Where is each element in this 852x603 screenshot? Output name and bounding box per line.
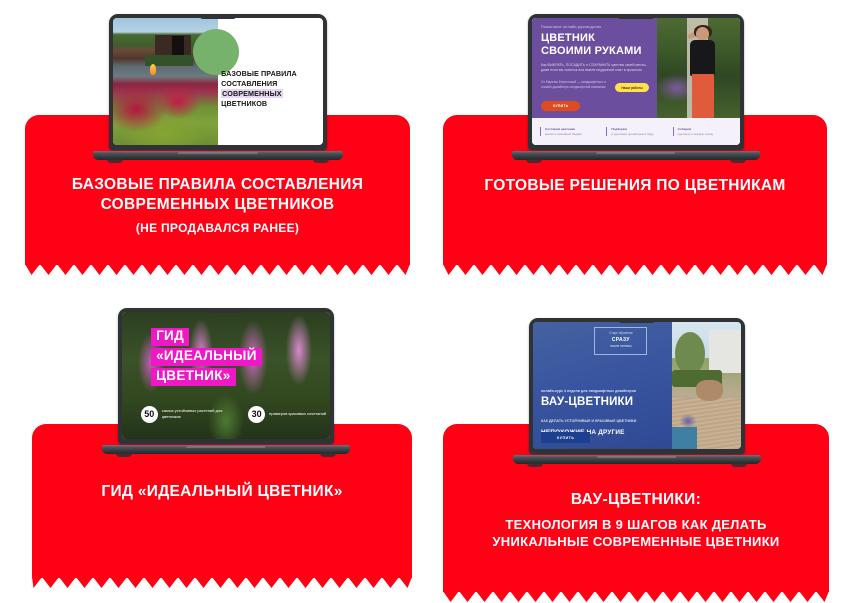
card-caption: БАЗОВЫЕ ПРАВИЛА СОСТАВЛЕНИЯ СОВРЕМЕННЫХ … [25, 175, 410, 237]
slide-basic-rules: БАЗОВЫЕ ПРАВИЛА СОСТАВЛЕНИЯ СОВРЕМЕННЫХ … [113, 18, 323, 145]
ribbon-zigzag-edge [443, 591, 829, 603]
cover-title: ГИД «ИДЕАЛЬНЫЙ ЦВЕТНИК» [151, 327, 262, 387]
promo-card-basic-rules: БАЗОВЫЕ ПРАВИЛА СОСТАВЛЕНИЯ СОВРЕМЕННЫХ … [25, 0, 410, 280]
hero-author: От Марины Берестовой — ландшафтного и он… [541, 80, 608, 90]
feature-subtitle: время и семейный бюджет [545, 132, 599, 137]
caption-line-1: БАЗОВЫЕ ПРАВИЛА СОСТАВЛЕНИЯ [25, 175, 410, 195]
stat-number: 30 [248, 406, 265, 423]
laptop-screen: Старт обучения СРАЗУ после оплаты онлайн… [533, 322, 741, 449]
feature-strip: Составим цветники время и семейный бюдже… [532, 118, 740, 145]
promo-card-wow-flowerbeds: Старт обучения СРАЗУ после оплаты онлайн… [443, 300, 829, 592]
stat-item: 50 самых устойчивых растений для цветник… [141, 406, 224, 423]
laptop-base [102, 445, 350, 454]
slide-ideal-guide: ГИД «ИДЕАЛЬНЫЙ ЦВЕТНИК» 50 самых устойчи… [122, 312, 330, 439]
feature-subtitle: в удалении организуем в саду [611, 132, 665, 137]
headline-line-4: ЦВЕТНИКОВ [221, 99, 321, 109]
laptop-mockup: ГИД «ИДЕАЛЬНЫЙ ЦВЕТНИК» 50 самых устойчи… [118, 308, 334, 458]
title-band-2: «ИДЕАЛЬНЫЙ [151, 348, 262, 366]
laptop-screen: Пошаговое онлайн-руководство ЦВЕТНИК СВО… [532, 18, 740, 145]
laptop-lid: Старт обучения СРАЗУ после оплаты онлайн… [529, 318, 745, 454]
badge-line-3: после оплаты [597, 344, 644, 349]
slide-wow-flowerbeds: Старт обучения СРАЗУ после оплаты онлайн… [533, 322, 741, 449]
caption-note: (НЕ ПРОДАВАЛСЯ РАНЕЕ) [25, 221, 410, 237]
headline-line-1: БАЗОВЫЕ ПРАВИЛА [221, 69, 321, 79]
webcam-notch [207, 308, 245, 313]
laptop-mockup: Старт обучения СРАЗУ после оплаты онлайн… [529, 318, 745, 468]
stat-label: самых устойчивых растений для цветников [162, 408, 224, 419]
caption-sub-line-1: ТЕХНОЛОГИЯ В 9 ШАГОВ КАК ДЕЛАТЬ [443, 517, 829, 534]
landing-hero: Пошаговое онлайн-руководство ЦВЕТНИК СВО… [532, 18, 657, 118]
caption-line-1: ГИД «ИДЕАЛЬНЫЙ ЦВЕТНИК» [32, 482, 412, 502]
promo-card-ready-solutions: Пошаговое онлайн-руководство ЦВЕТНИК СВО… [443, 0, 827, 280]
feature-item: Соберём сделаете в первую схему [673, 127, 732, 136]
title-band-3: ЦВЕТНИК» [151, 368, 235, 386]
laptop-screen: БАЗОВЫЕ ПРАВИЛА СОСТАВЛЕНИЯ СОВРЕМЕННЫХ … [113, 18, 323, 145]
feature-item: Подберём в удалении организуем в саду [606, 127, 665, 136]
stat-label: примеров красивых сочетаний [269, 411, 330, 417]
feature-subtitle: сделаете в первую схему [678, 132, 732, 137]
card-caption: ГОТОВЫЕ РЕШЕНИЯ ПО ЦВЕТНИКАМ [443, 176, 827, 196]
ribbon-zigzag-edge [25, 264, 410, 276]
course-subhead: КАК ДЕЛАТЬ УСТОЙЧИВЫЕ И КРАСИВЫЕ ЦВЕТНИК… [541, 419, 664, 425]
webcam-notch [199, 14, 237, 19]
buy-button[interactable]: КУПИТЬ [541, 432, 590, 443]
works-pill-button[interactable]: Наши работы [615, 83, 648, 92]
hero-photo-woman [657, 18, 740, 118]
slide-ready-solutions: Пошаговое онлайн-руководство ЦВЕТНИК СВО… [532, 18, 740, 145]
title-band-1: ГИД [151, 328, 189, 346]
card-caption: ГИД «ИДЕАЛЬНЫЙ ЦВЕТНИК» [32, 482, 412, 502]
cover-stats: 50 самых устойчивых растений для цветник… [141, 406, 316, 423]
feature-item: Составим цветники время и семейный бюдже… [540, 127, 599, 136]
ribbon-zigzag-edge [32, 577, 412, 589]
laptop-base [93, 151, 343, 160]
laptop-base [512, 151, 760, 160]
caption-line-2: СОВРЕМЕННЫХ ЦВЕТНИКОВ [25, 195, 410, 215]
hero-body: Как ВЫБРАТЬ, ПОСАДИТЬ и СОХРАНИТЬ цветни… [541, 63, 649, 74]
webcam-notch [617, 14, 655, 19]
ribbon-zigzag-edge [443, 264, 827, 276]
laptop-base [513, 455, 761, 464]
course-kicker: онлайн-курс 4 недели для ландшафтных диз… [541, 389, 636, 393]
laptop-lid: ГИД «ИДЕАЛЬНЫЙ ЦВЕТНИК» 50 самых устойчи… [118, 308, 334, 444]
stat-number: 50 [141, 406, 158, 423]
slide-headline: БАЗОВЫЕ ПРАВИЛА СОСТАВЛЕНИЯ СОВРЕМЕННЫХ … [221, 69, 321, 110]
laptop-mockup: Пошаговое онлайн-руководство ЦВЕТНИК СВО… [528, 14, 744, 164]
slide-text-area: БАЗОВЫЕ ПРАВИЛА СОСТАВЛЕНИЯ СОВРЕМЕННЫХ … [218, 18, 323, 145]
start-badge: Старт обучения СРАЗУ после оплаты [594, 327, 647, 355]
card-caption: ВАУ-ЦВЕТНИКИ: ТЕХНОЛОГИЯ В 9 ШАГОВ КАК Д… [443, 490, 829, 551]
caption-sub-line-2: УНИКАЛЬНЫЕ СОВРЕМЕННЫЕ ЦВЕТНИКИ [443, 534, 829, 551]
laptop-lid: БАЗОВЫЕ ПРАВИЛА СОСТАВЛЕНИЯ СОВРЕМЕННЫХ … [109, 14, 327, 150]
course-headline: ВАУ-ЦВЕТНИКИ [541, 396, 633, 408]
laptop-screen: ГИД «ИДЕАЛЬНЫЙ ЦВЕТНИК» 50 самых устойчи… [122, 312, 330, 439]
laptop-lid: Пошаговое онлайн-руководство ЦВЕТНИК СВО… [528, 14, 744, 150]
laptop-mockup: БАЗОВЫЕ ПРАВИЛА СОСТАВЛЕНИЯ СОВРЕМЕННЫХ … [109, 14, 327, 164]
caption-line-1: ВАУ-ЦВЕТНИКИ: [443, 490, 829, 510]
course-photo-garden [672, 322, 741, 449]
caption-line-1: ГОТОВЫЕ РЕШЕНИЯ ПО ЦВЕТНИКАМ [443, 176, 827, 196]
hero-kicker: Пошаговое онлайн-руководство [541, 25, 649, 29]
course-hero: Старт обучения СРАЗУ после оплаты онлайн… [533, 322, 672, 449]
promo-cards-board: БАЗОВЫЕ ПРАВИЛА СОСТАВЛЕНИЯ СОВРЕМЕННЫХ … [0, 0, 852, 603]
headline-line-3: СОВРЕМЕННЫХ [221, 89, 321, 99]
webcam-notch [618, 318, 656, 323]
promo-card-ideal-guide: ГИД «ИДЕАЛЬНЫЙ ЦВЕТНИК» 50 самых устойчи… [32, 300, 412, 590]
hero-headline-2: СВОИМИ РУКАМИ [541, 45, 649, 58]
badge-line-2: СРАЗУ [597, 336, 644, 344]
hero-headline-1: ЦВЕТНИК [541, 32, 649, 45]
stat-item: 30 примеров красивых сочетаний [248, 406, 330, 423]
headline-line-2: СОСТАВЛЕНИЯ [221, 79, 321, 89]
buy-button[interactable]: КУПИТЬ [541, 101, 580, 111]
